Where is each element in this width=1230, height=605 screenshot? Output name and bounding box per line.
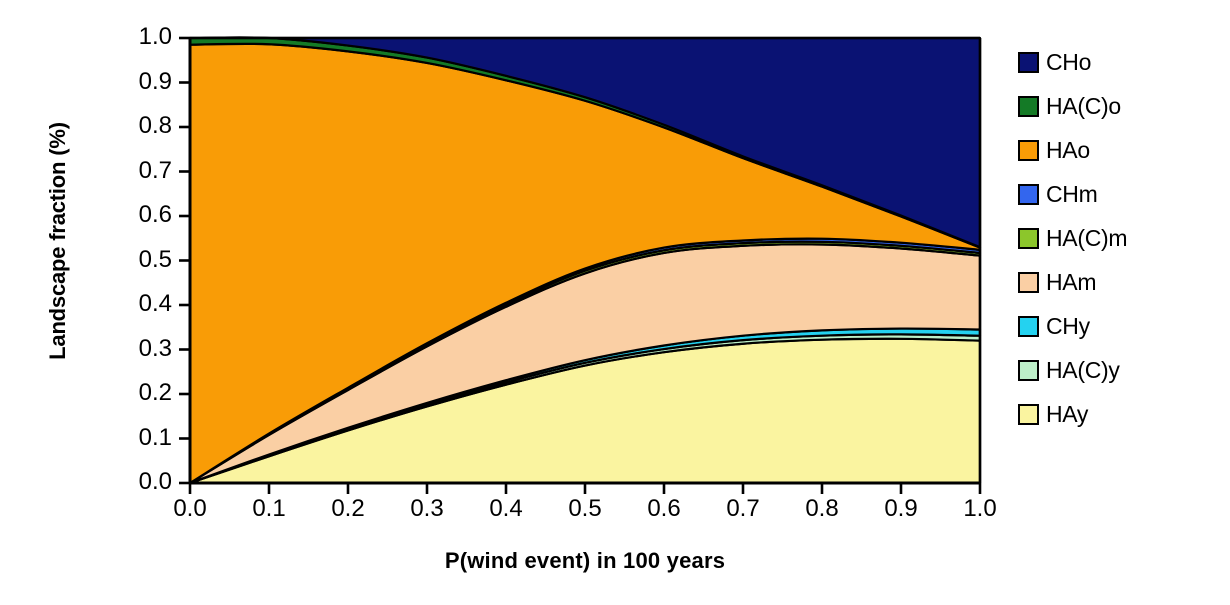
legend-item-haco[interactable]: HA(C)o bbox=[1018, 84, 1228, 128]
legend-swatch-icon bbox=[1018, 228, 1039, 249]
legend-item-label: HAy bbox=[1046, 401, 1088, 428]
x-tick-label: 0.1 bbox=[234, 497, 304, 521]
x-tick-label: 0.7 bbox=[708, 497, 778, 521]
legend-swatch-icon bbox=[1018, 360, 1039, 381]
legend-swatch-icon bbox=[1018, 272, 1039, 293]
legend-item-label: HA(C)o bbox=[1046, 93, 1121, 120]
legend-item-label: CHo bbox=[1046, 49, 1091, 76]
legend-swatch-icon bbox=[1018, 96, 1039, 117]
legend-item-ham[interactable]: HAm bbox=[1018, 260, 1228, 304]
x-tick-label: 0.6 bbox=[629, 497, 699, 521]
legend-item-label: CHy bbox=[1046, 313, 1090, 340]
legend-swatch-icon bbox=[1018, 140, 1039, 161]
legend-item-hacy[interactable]: HA(C)y bbox=[1018, 348, 1228, 392]
x-tick-label: 0.3 bbox=[392, 497, 462, 521]
legend-item-label: HAo bbox=[1046, 137, 1090, 164]
legend-swatch-icon bbox=[1018, 404, 1039, 425]
x-tick-label: 0.8 bbox=[787, 497, 857, 521]
legend-item-cho[interactable]: CHo bbox=[1018, 40, 1228, 84]
chart-legend: CHoHA(C)oHAoCHmHA(C)mHAmCHyHA(C)yHAy bbox=[1018, 40, 1228, 436]
legend-item-chm[interactable]: CHm bbox=[1018, 172, 1228, 216]
area-series-group bbox=[190, 37, 980, 483]
x-tick-label: 0.0 bbox=[155, 497, 225, 521]
legend-item-label: HA(C)y bbox=[1046, 357, 1120, 384]
legend-item-hacm[interactable]: HA(C)m bbox=[1018, 216, 1228, 260]
x-tick-label: 0.9 bbox=[866, 497, 936, 521]
stacked-area-chart-figure: Landscape fraction (%) 1.00.90.80.70.60.… bbox=[0, 0, 1230, 605]
legend-item-chy[interactable]: CHy bbox=[1018, 304, 1228, 348]
legend-item-hao[interactable]: HAo bbox=[1018, 128, 1228, 172]
x-tick-label: 1.0 bbox=[945, 497, 1015, 521]
legend-item-hay[interactable]: HAy bbox=[1018, 392, 1228, 436]
x-tick-label: 0.4 bbox=[471, 497, 541, 521]
x-axis-title: P(wind event) in 100 years bbox=[190, 548, 980, 574]
legend-swatch-icon bbox=[1018, 316, 1039, 337]
x-axis-tick-labels: 0.00.10.20.30.40.50.60.70.80.91.0 bbox=[0, 497, 1230, 537]
legend-swatch-icon bbox=[1018, 52, 1039, 73]
legend-swatch-icon bbox=[1018, 184, 1039, 205]
x-tick-label: 0.5 bbox=[550, 497, 620, 521]
x-tick-label: 0.2 bbox=[313, 497, 383, 521]
legend-item-label: HAm bbox=[1046, 269, 1096, 296]
legend-item-label: HA(C)m bbox=[1046, 225, 1127, 252]
legend-item-label: CHm bbox=[1046, 181, 1097, 208]
